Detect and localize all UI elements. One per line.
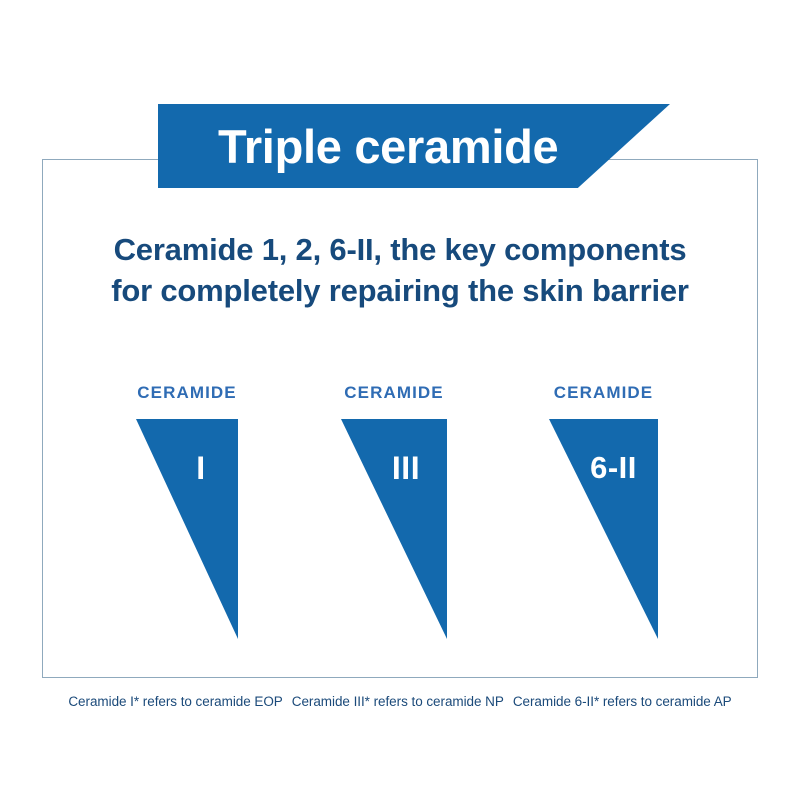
ceramide-wedge-3: 6-II [548, 418, 659, 640]
infographic-root: Triple ceramide Ceramide 1, 2, 6-II, the… [0, 0, 800, 800]
ceramide-item-3: CERAMIDE 6-II [548, 384, 659, 640]
ceramide-roman-2: III [340, 452, 446, 484]
ceramide-label-3: CERAMIDE [548, 384, 659, 401]
subtitle-line-2: for completely repairing the skin barrie… [42, 271, 758, 312]
ceramide-label-2: CERAMIDE [340, 384, 448, 401]
subtitle-block: Ceramide 1, 2, 6-II, the key components … [42, 230, 758, 312]
ceramide-item-2: CERAMIDE III [340, 384, 448, 640]
footnote: Ceramide I* refers to ceramide EOPCerami… [0, 694, 800, 709]
footnote-part-3: Ceramide 6-II* refers to ceramide AP [513, 694, 732, 709]
footnote-part-2: Ceramide III* refers to ceramide NP [292, 694, 504, 709]
ceramide-wedge-1: I [135, 418, 239, 640]
footnote-part-1: Ceramide I* refers to ceramide EOP [68, 694, 282, 709]
ceramide-wedge-2: III [340, 418, 448, 640]
ceramide-label-1: CERAMIDE [135, 384, 239, 401]
ceramide-roman-3: 6-II [548, 452, 657, 483]
ceramide-group: CERAMIDE I CERAMIDE III CERAMIDE [42, 384, 758, 644]
ceramide-roman-1: I [135, 452, 237, 484]
page-title: Triple ceramide [158, 123, 558, 170]
subtitle-line-1: Ceramide 1, 2, 6-II, the key components [42, 230, 758, 271]
ceramide-item-1: CERAMIDE I [135, 384, 239, 640]
